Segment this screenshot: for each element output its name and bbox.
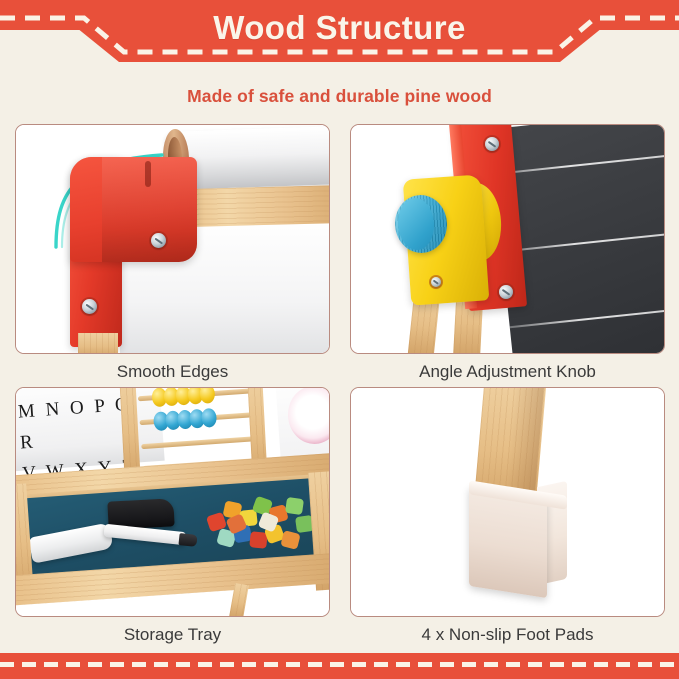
abacus-rod	[141, 436, 259, 449]
abacus-bead	[201, 408, 217, 428]
footer-strip	[0, 653, 679, 679]
chalkboard-line	[494, 154, 665, 175]
scene-storage-tray: M N O P Q R V W X Y Z	[16, 388, 329, 616]
wood-frame-rail	[180, 185, 330, 227]
feature-card-smooth-edges: Smooth Edges	[15, 124, 330, 387]
photo-storage-tray: M N O P Q R V W X Y Z	[15, 387, 330, 617]
page-subtitle: Made of safe and durable pine wood	[0, 86, 679, 107]
screw-icon	[431, 277, 441, 287]
scene-foot-pads	[351, 388, 664, 616]
photo-foot-pads	[350, 387, 665, 617]
photo-angle-knob	[350, 124, 665, 354]
photo-smooth-edges	[15, 124, 330, 354]
card-caption: 4 x Non-slip Foot Pads	[350, 617, 665, 650]
wood-leg	[78, 333, 118, 354]
feature-card-angle-knob: Angle Adjustment Knob	[350, 124, 665, 387]
feature-card-storage-tray: M N O P Q R V W X Y Z	[15, 387, 330, 650]
chalkboard-line	[502, 231, 665, 252]
page-title: Wood Structure	[0, 6, 679, 50]
corner-protector-notch	[145, 161, 151, 187]
screw-icon	[82, 299, 97, 314]
magnet-letter	[285, 497, 304, 515]
magnet-letter	[280, 530, 300, 550]
magnetic-letters-pile	[204, 496, 324, 556]
marker-tip	[178, 533, 197, 547]
chalkboard-line	[510, 307, 665, 328]
card-caption: Storage Tray	[15, 617, 330, 650]
footer-dashed-line	[0, 662, 679, 667]
card-caption: Smooth Edges	[15, 354, 330, 387]
infographic-page: Wood Structure Made of safe and durable …	[0, 0, 679, 679]
screw-icon	[485, 137, 499, 151]
scene-smooth-edges	[16, 125, 329, 353]
feature-card-foot-pads: 4 x Non-slip Foot Pads	[350, 387, 665, 650]
screw-icon	[151, 233, 166, 248]
scene-angle-knob	[351, 125, 664, 353]
card-caption: Angle Adjustment Knob	[350, 354, 665, 387]
feature-card-grid: Smooth Edges	[15, 124, 665, 649]
screw-icon	[499, 285, 513, 299]
abacus-bead	[199, 387, 215, 404]
header-banner: Wood Structure	[0, 0, 679, 80]
